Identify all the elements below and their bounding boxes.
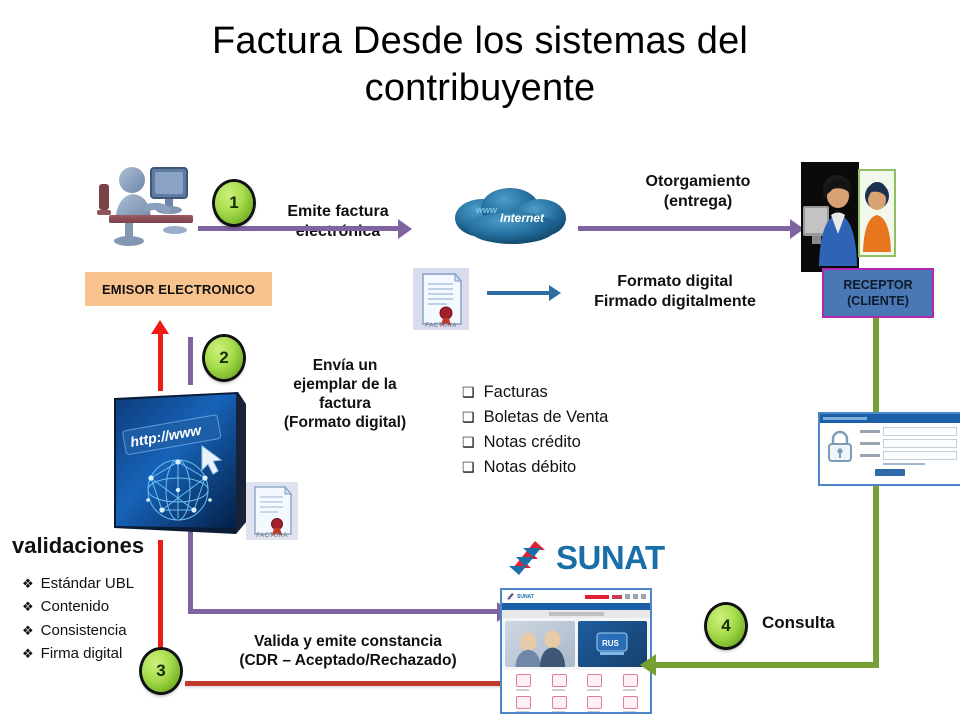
step-1-label: Emite factura electrónica (268, 202, 408, 241)
receptor-person-icon (801, 162, 896, 274)
svg-text:www: www (476, 205, 498, 215)
diamond-bullet-icon: ❖ (22, 597, 34, 617)
list-item: ❑ Notas débito (462, 455, 608, 480)
list-item: ❑ Boletas de Venta (462, 405, 608, 430)
site-grid-icon (552, 696, 565, 713)
flow-step2-to-sunat (188, 609, 500, 614)
site-header-icons (585, 594, 646, 599)
list-item: ❖ Firma digital (22, 642, 134, 665)
validaciones-title: validaciones (12, 533, 144, 559)
site-grid-icon (552, 674, 565, 691)
network-monitor-icon: http://www (106, 390, 252, 538)
flow-emisor-to-internet-arrowhead (398, 219, 412, 239)
ruc-field-row[interactable] (860, 427, 957, 436)
site-grid-icon (587, 696, 600, 713)
flow-emisor-to-internet (198, 226, 398, 231)
step-4-label: Consulta (762, 613, 902, 634)
list-item-label: Boletas de Venta (484, 405, 609, 430)
emisor-label: EMISOR ELECTRONICO (102, 282, 255, 297)
list-item-label: Notas crédito (484, 430, 581, 455)
usuario-field-row[interactable] (860, 439, 957, 448)
login-submit-button[interactable] (875, 469, 905, 476)
signed-document-icon-2: FACTURA (246, 482, 298, 540)
site-navbar (502, 603, 650, 610)
list-item-label: Facturas (484, 380, 548, 405)
site-hero-photo (505, 621, 575, 667)
flow-step3-vertical-upper (158, 333, 163, 391)
diamond-bullet-icon: ❖ (22, 574, 34, 594)
list-item: ❖ Consistencia (22, 619, 134, 642)
site-icon-row (505, 674, 647, 691)
lock-icon (823, 427, 856, 465)
checkbox-bullet-icon: ❑ (462, 382, 475, 403)
flow-step2-vertical-upper (188, 337, 193, 385)
sunat-website-icon: SUNAT (500, 588, 652, 714)
sunat-mark-icon (505, 538, 549, 578)
checkbox-bullet-icon: ❑ (462, 432, 475, 453)
login-fields (860, 427, 957, 465)
site-grid-icon (623, 696, 636, 713)
otorgamiento-label: Otorgamiento (entrega) (608, 172, 788, 211)
list-item: ❖ Contenido (22, 595, 134, 618)
flow-step3-arrowhead (151, 320, 169, 334)
list-item: ❑ Facturas (462, 380, 608, 405)
contrasena-field-row[interactable] (860, 451, 957, 460)
site-grid-icon (516, 696, 529, 713)
site-grid-icon (516, 674, 529, 691)
site-grid-icon (587, 674, 600, 691)
step-1-number: 1 (229, 193, 238, 213)
formato-digital-label: Formato digital Firmado digitalmente (570, 272, 780, 311)
emisor-electronico-box: EMISOR ELECTRONICO (85, 272, 272, 306)
step-3-number: 3 (156, 661, 165, 681)
sunat-wordmark: SUNAT (556, 539, 665, 577)
list-item: ❖ Estándar UBL (22, 572, 134, 595)
step-3-badge: 3 (142, 650, 180, 692)
receptor-label-line1: RECEPTOR (843, 277, 912, 293)
site-logo-word: SUNAT (517, 594, 534, 600)
login-titlebar (820, 414, 960, 423)
step-3-label: Valida y emite constancia (CDR – Aceptad… (198, 633, 498, 671)
validaciones-list: ❖ Estándar UBL ❖ Contenido ❖ Consistenci… (22, 572, 134, 665)
site-hero: RUS (502, 618, 650, 670)
page-title: Factura Desde los sistemas del contribuy… (140, 18, 820, 112)
sunat-login-window-icon (818, 412, 960, 486)
receptor-label-line2: (CLIENTE) (847, 293, 909, 309)
step-1-badge: 1 (215, 182, 253, 224)
site-icon-row (505, 696, 647, 713)
svg-text:Internet: Internet (500, 211, 545, 225)
diamond-bullet-icon: ❖ (22, 644, 34, 664)
list-item-label: Notas débito (484, 455, 577, 480)
list-item-label: Consistencia (41, 619, 127, 642)
site-icon-grid (502, 670, 650, 714)
receptor-cliente-box: RECEPTOR (CLIENTE) (822, 268, 934, 318)
signed-document-icon: FACTURA (413, 268, 469, 330)
step-4-number: 4 (721, 616, 730, 636)
list-item-label: Contenido (41, 595, 109, 618)
flow-step3-horizontal (185, 681, 510, 686)
login-button-row (820, 469, 960, 479)
cloud-icon: www Internet (448, 182, 578, 254)
site-hero-banner: RUS (578, 621, 648, 667)
factura-doc2-caption: FACTURA (246, 533, 298, 539)
flow-doc-to-formato-arrowhead (549, 285, 561, 301)
step-4-badge: 4 (707, 605, 745, 647)
flow-consulta-horizontal (655, 662, 879, 668)
list-item-label: Estándar UBL (41, 572, 134, 595)
flow-doc-to-formato (487, 291, 549, 295)
site-header: SUNAT (502, 590, 650, 603)
checkbox-bullet-icon: ❑ (462, 407, 475, 428)
svg-text:RUS: RUS (602, 639, 620, 648)
step-2-badge: 2 (205, 337, 243, 379)
step-2-label: Envía un ejemplar de la factura (Formato… (265, 357, 425, 433)
list-item-label: Firma digital (41, 642, 123, 665)
flow-step2-vertical-lower (188, 528, 193, 614)
site-logo: SUNAT (506, 592, 534, 601)
flow-internet-to-receptor (578, 226, 793, 231)
factura-doc-caption: FACTURA (413, 323, 469, 329)
checkbox-bullet-icon: ❑ (462, 457, 475, 478)
forgot-password-link[interactable] (883, 463, 925, 465)
list-item: ❑ Notas crédito (462, 430, 608, 455)
site-grid-icon (623, 674, 636, 691)
login-body (820, 423, 960, 469)
person-at-desk-icon (85, 160, 205, 255)
step-2-number: 2 (219, 348, 228, 368)
document-types-list: ❑ Facturas ❑ Boletas de Venta ❑ Notas cr… (462, 380, 608, 480)
flow-consulta-arrowhead (640, 654, 656, 676)
sunat-logo-icon: SUNAT (505, 538, 665, 578)
site-tabs (502, 610, 650, 618)
diagram-canvas: Factura Desde los sistemas del contribuy… (0, 0, 960, 720)
diamond-bullet-icon: ❖ (22, 621, 34, 641)
